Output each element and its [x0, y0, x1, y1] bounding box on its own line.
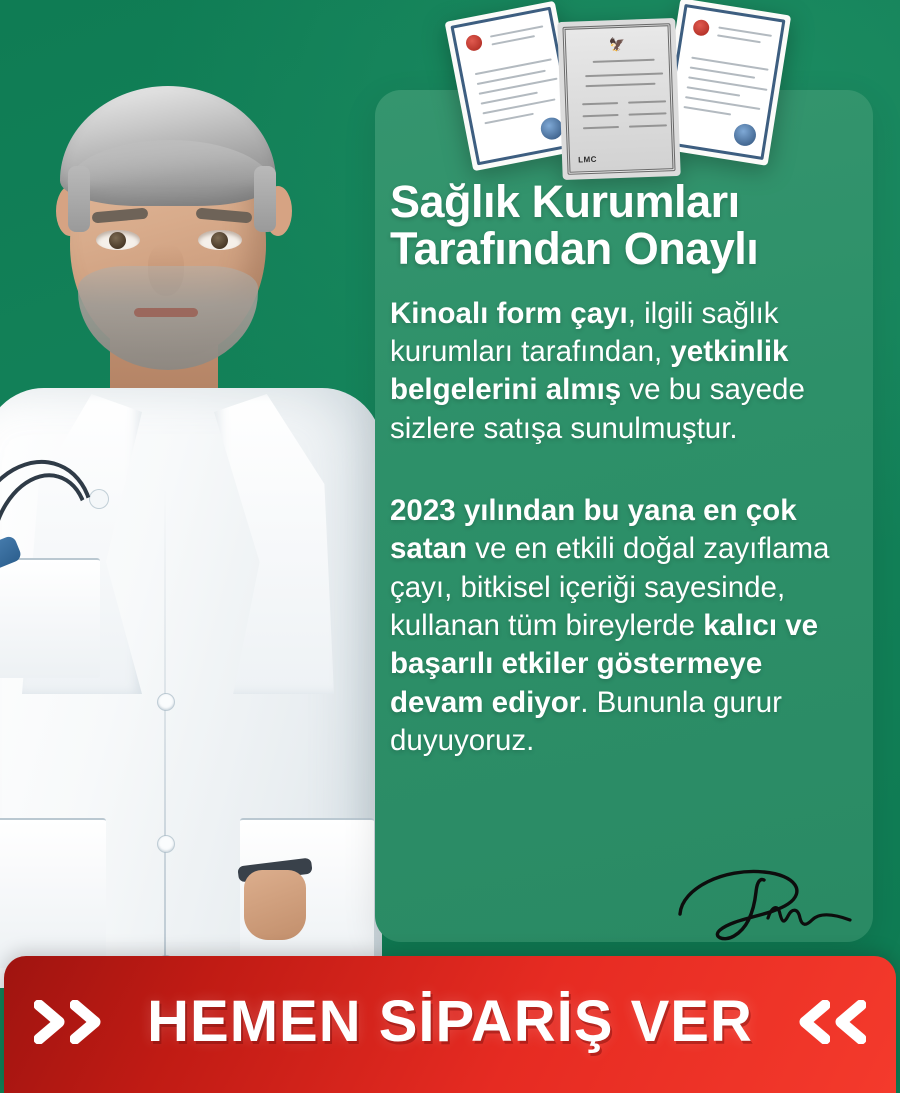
- order-now-button[interactable]: HEMEN SİPARİŞ VER: [4, 956, 896, 1093]
- sideburn-right: [254, 166, 276, 232]
- double-chevron-left-icon: [796, 1000, 866, 1044]
- eagle-emblem-icon: 🦅: [609, 38, 626, 52]
- coat-seam: [164, 488, 166, 988]
- certificates-group: 🦅 LMC: [452, 4, 792, 180]
- card-text-block: Sağlık Kurumları Tarafından Onaylı Kinoa…: [390, 178, 860, 760]
- bestseller-paragraph: 2023 yılından bu yana en çok satan ve en…: [390, 492, 860, 760]
- headline-line-1: Sağlık Kurumları: [390, 178, 860, 225]
- stethoscope-icon: [0, 454, 116, 634]
- doctor-portrait: [0, 58, 402, 978]
- eye-left: [96, 230, 140, 250]
- certificate-seal-icon: [692, 19, 710, 37]
- hair: [60, 86, 276, 206]
- signature: [672, 862, 862, 944]
- approval-paragraph: Kinoalı form çayı, ilgili sağlık kurumla…: [390, 295, 860, 448]
- beard: [78, 266, 258, 370]
- coat-button: [158, 836, 174, 852]
- advertisement-banner: 🦅 LMC Sağlık Kurumları Tarafından Onaylı…: [0, 0, 900, 1093]
- certificate-logo: LMC: [578, 155, 597, 165]
- certificate-center: 🦅 LMC: [557, 18, 680, 180]
- sideburn-left: [68, 166, 90, 232]
- headline-line-2: Tarafından Onaylı: [390, 225, 860, 272]
- eye-right: [198, 230, 242, 250]
- certificate-rosette-icon: [732, 122, 757, 147]
- hand-in-pocket: [244, 870, 306, 940]
- certificate-seal-icon: [465, 33, 484, 52]
- mouth: [134, 308, 198, 317]
- coat-pocket-left: [0, 818, 106, 968]
- page-title: Sağlık Kurumları Tarafından Onaylı: [390, 178, 860, 273]
- double-chevron-right-icon: [34, 1000, 104, 1044]
- order-now-label: HEMEN SİPARİŞ VER: [104, 988, 796, 1055]
- coat-button: [158, 694, 174, 710]
